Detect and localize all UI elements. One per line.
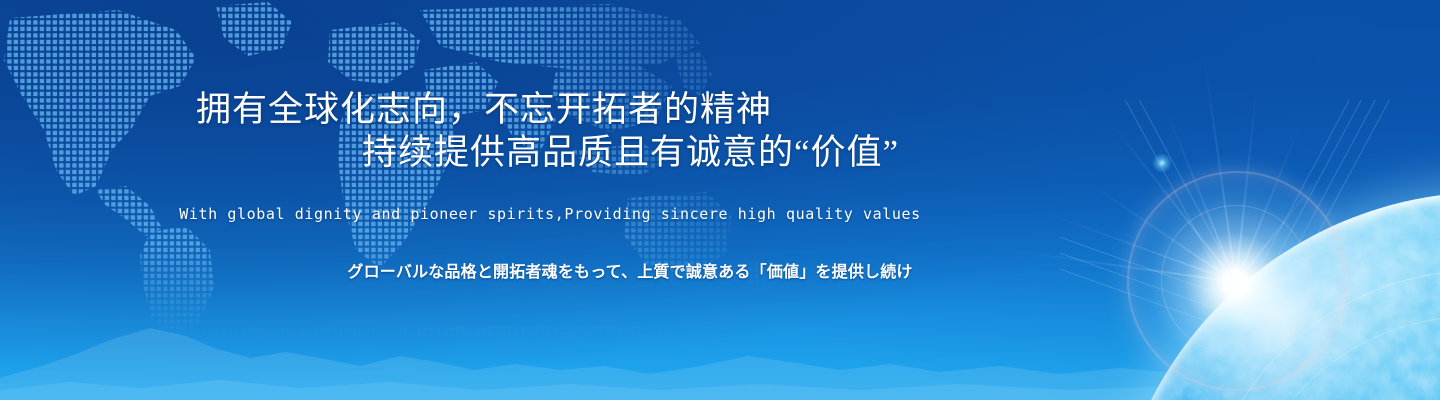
banner-text-block: 拥有全球化志向，不忘开拓者的精神 持续提供高品质且有诚意的“价值” With g… bbox=[0, 0, 1440, 400]
banner-headline-line-2: 持续提供高品质且有诚意的“价值” bbox=[0, 133, 1440, 173]
banner-headline-line-1: 拥有全球化志向，不忘开拓者的精神 bbox=[0, 90, 1296, 130]
banner-subtitle-japanese: グローバルな品格と開拓者魂をもって、上質で誠意ある「価値」を提供し続け bbox=[0, 258, 1260, 282]
hero-banner: 拥有全球化志向，不忘开拓者的精神 持续提供高品质且有诚意的“价值” With g… bbox=[0, 0, 1440, 400]
banner-subtitle-english: With global dignity and pioneer spirits,… bbox=[0, 205, 1100, 223]
